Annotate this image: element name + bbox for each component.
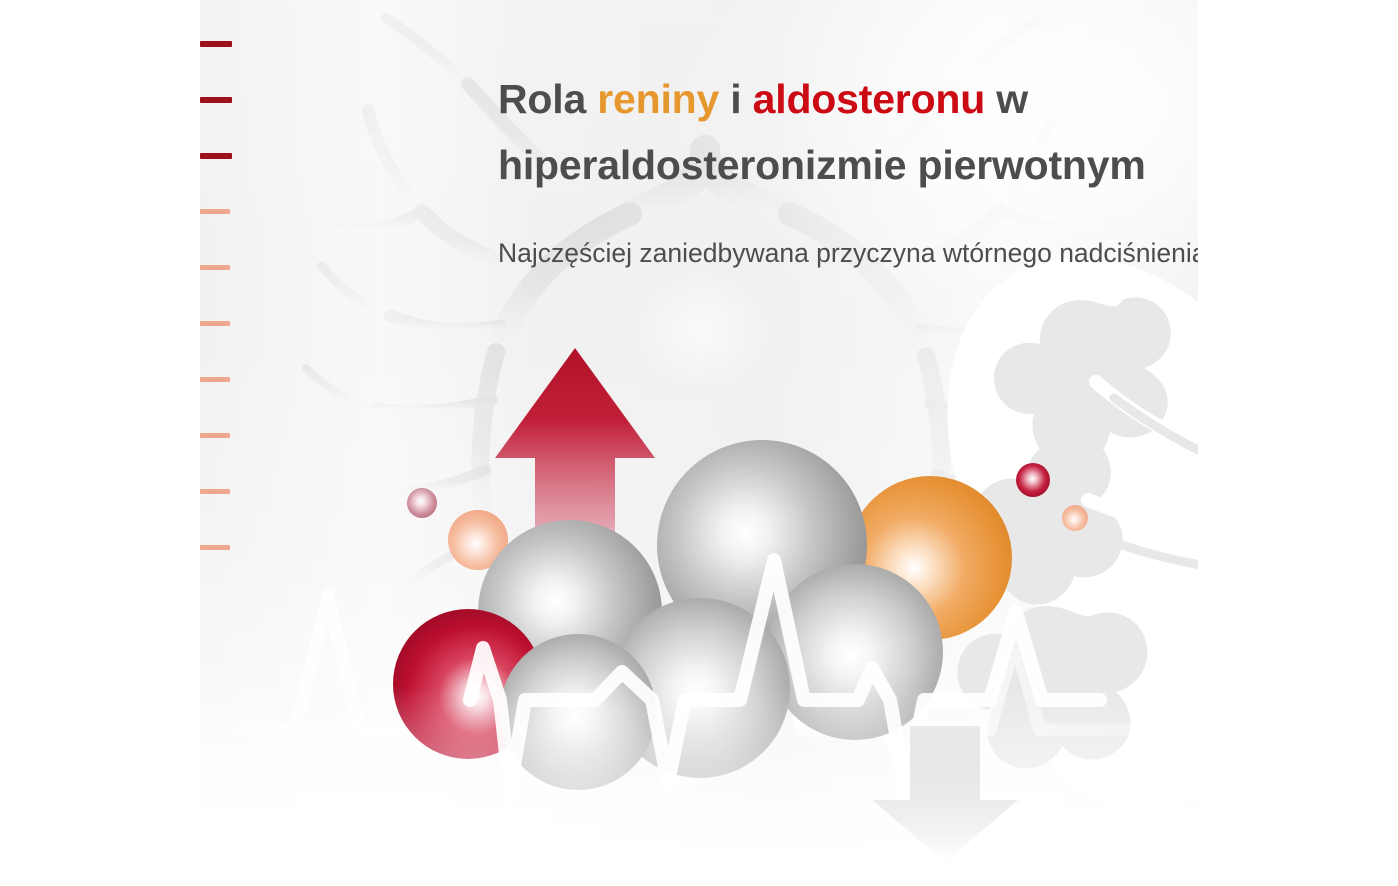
ruler-tick-8 [200, 489, 230, 494]
ruler-tick-7 [200, 433, 230, 438]
ruler-tick-3 [200, 209, 230, 214]
ruler-tick-4 [200, 265, 230, 270]
title-word-w: w [985, 76, 1028, 122]
slide-canvas: Rola reniny i aldosteronu w hiperaldoste… [0, 0, 1398, 886]
title-word-reniny: reniny [597, 76, 719, 122]
ruler-tick-1 [200, 97, 232, 103]
title-word-i: i [719, 76, 753, 122]
page-title: Rola reniny i aldosteronu w hiperaldoste… [498, 66, 1198, 199]
ruler-tick-6 [200, 377, 230, 382]
illustration-panel: Rola reniny i aldosteronu w hiperaldoste… [200, 0, 1198, 886]
title-word-rola: Rola [498, 76, 597, 122]
ruler-tick-5 [200, 321, 230, 326]
title-word-aldosteronu: aldosteronu [753, 76, 985, 122]
text-block: Rola reniny i aldosteronu w hiperaldoste… [498, 66, 1198, 271]
ruler-tick-9 [200, 545, 230, 550]
title-line-2: hiperaldosteronizmie pierwotnym [498, 142, 1146, 188]
ruler-tick-2 [200, 153, 232, 159]
ruler-tick-0 [200, 41, 232, 47]
page-subtitle: Najczęściej zaniedbywana przyczyna wtórn… [498, 235, 1198, 271]
